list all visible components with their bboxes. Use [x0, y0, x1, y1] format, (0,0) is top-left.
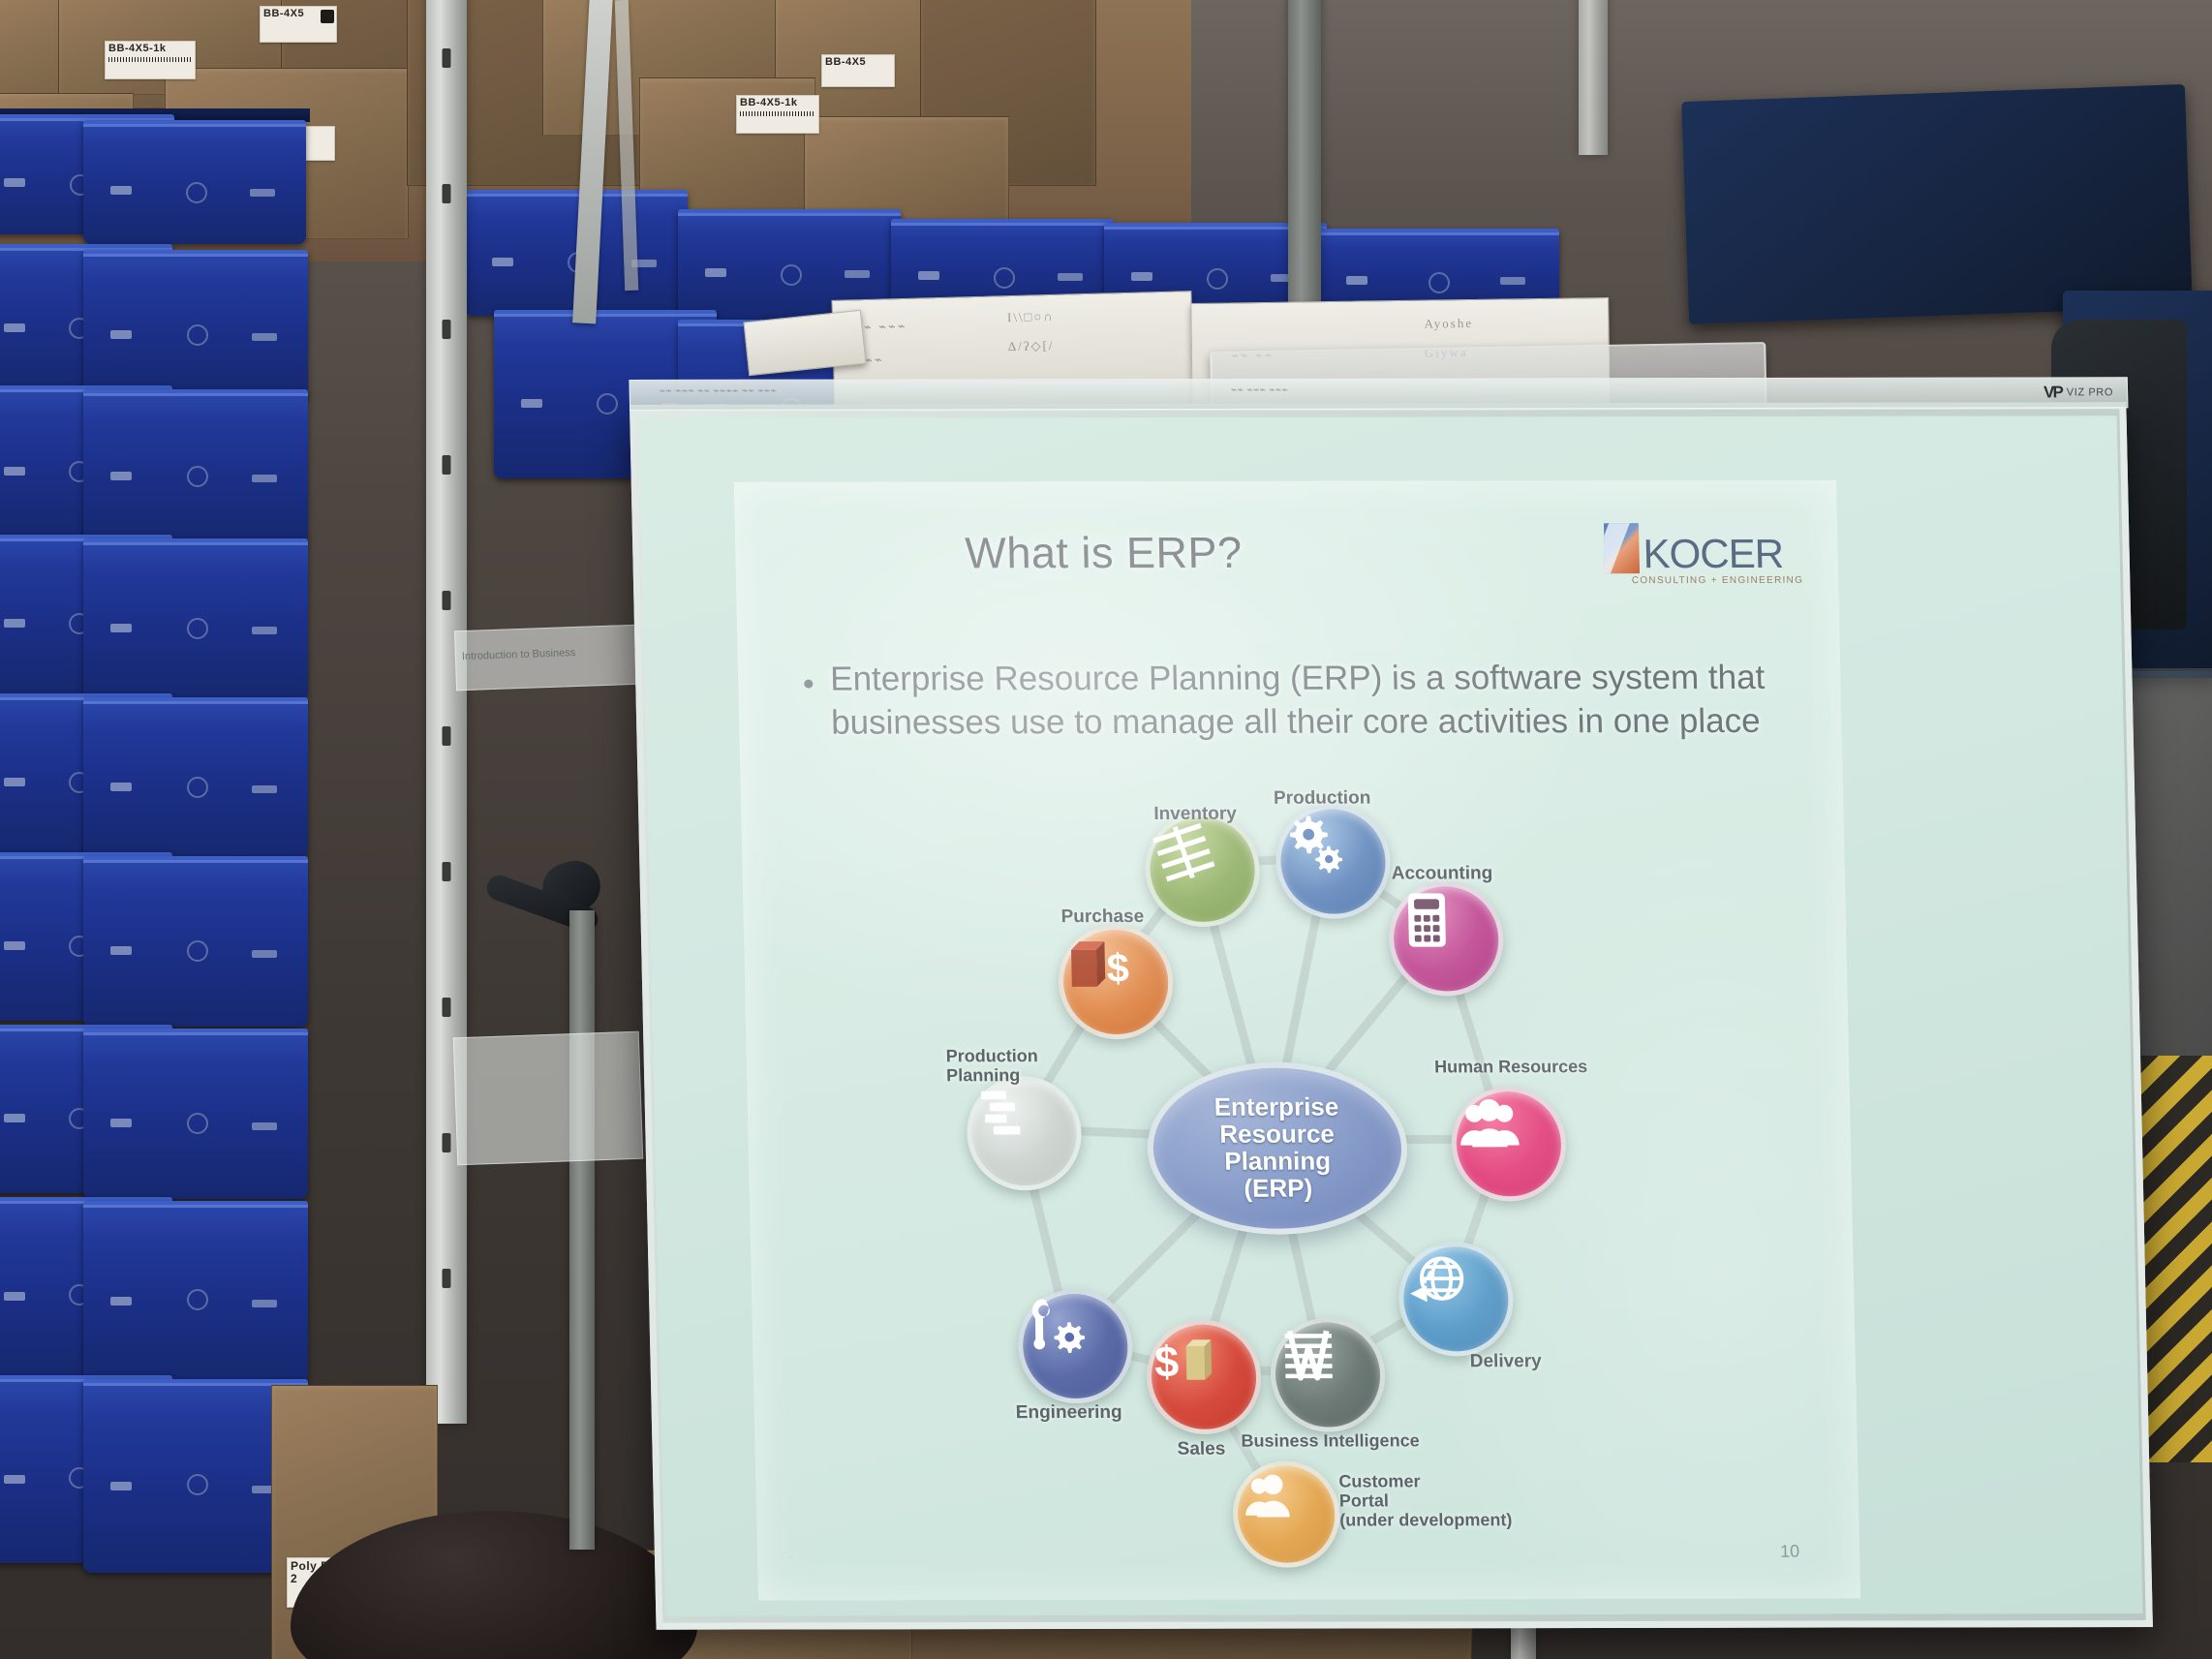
bullet-item: Enterprise Resource Planning (ERP) is a …: [804, 657, 1784, 745]
storage-bin: [83, 1029, 308, 1199]
customer-icon: [1237, 1466, 1300, 1528]
calculator-icon: [1393, 886, 1461, 953]
slide-number: 10: [1780, 1542, 1799, 1562]
diagram-label: Business Intelligence: [1241, 1431, 1420, 1451]
rack-upright: [1579, 0, 1608, 155]
box-label: BB-4X5: [821, 54, 895, 87]
storage-bin: [83, 120, 306, 244]
gantt-icon: [970, 1081, 1039, 1148]
storage-bin: [83, 1201, 308, 1381]
diagram-node-delivery: [1398, 1242, 1515, 1356]
diagram-label: Sales: [1177, 1440, 1225, 1460]
handwriting: Δ/ʔ◇[/: [1008, 338, 1055, 354]
ghost-slide-text: Introduction to Business: [462, 647, 576, 662]
diagram-node-human-resources: [1451, 1087, 1568, 1201]
gears-icon: [1279, 810, 1348, 876]
diagram-node-engineering: [1017, 1289, 1134, 1403]
display-bezel: ⌁⌁ ⌁⌁⌁ ⌁⌁ ⌁⌁⌁⌁ ⌁⌁ ⌁⌁⌁ ⌁⌁ ⌁⌁⌁ ⌁⌁⌁ VP VIZ …: [629, 377, 2128, 411]
diagram-node-inventory: [1144, 813, 1261, 927]
box-label: BB-4X5: [260, 6, 337, 43]
diagram-label: CustomerPortal(under development): [1338, 1472, 1512, 1530]
storage-bin: [83, 697, 308, 858]
svg-text:$: $: [1154, 1336, 1180, 1386]
diagram-node-accounting: [1388, 881, 1505, 996]
bullet-text: Enterprise Resource Planning (ERP) is a …: [830, 657, 1784, 745]
handwriting: Ayoshe: [1424, 316, 1473, 332]
kocer-logo-mark-icon: [1604, 523, 1640, 573]
svg-text:$: $: [1106, 945, 1129, 991]
diagram-label: Delivery: [1470, 1352, 1542, 1372]
box-label-text: BB-4X5: [263, 8, 304, 19]
diagram-node-production-planning: [966, 1076, 1083, 1190]
photo-scene: BB-4X5-1k BB-4X5 BB-4X5 BB-4X5-1k BB-4X5: [0, 0, 2212, 1659]
stand-pole: [569, 910, 595, 1550]
kocer-logo-subtitle: CONSULTING + ENGINEERING: [1605, 575, 1803, 586]
vizpro-brand: VP VIZ PRO: [2043, 383, 2113, 402]
diagram-node-purchase: $: [1058, 925, 1175, 1039]
kocer-logo-word: KOCER: [1643, 536, 1783, 573]
barcode-icon: [108, 57, 192, 62]
slide-canvas: What is ERP? KOCER CONSULTING + ENGINEER…: [734, 480, 1860, 1601]
erp-module-diagram: Enterprise Resource Planning (ERP): [885, 771, 1716, 1566]
bar-chart-icon: [1275, 1323, 1343, 1390]
globe-arrow-icon: [1402, 1246, 1471, 1313]
page-title: What is ERP?: [735, 527, 1472, 578]
dollar-box-icon: $: [1151, 1325, 1219, 1392]
kocer-logo: KOCER CONSULTING + ENGINEERING: [1604, 523, 1803, 586]
center-node-text: Enterprise Resource Planning (ERP): [1214, 1094, 1340, 1202]
people-icon: [1456, 1091, 1524, 1158]
shelving-icon: [1149, 817, 1217, 884]
diagram-node-customer-portal-under-development: [1232, 1461, 1340, 1568]
diagram-node-business-intelligence: [1270, 1317, 1387, 1431]
equipment: [1681, 84, 2193, 324]
barcode-block-icon: [321, 10, 334, 23]
storage-bin: [83, 856, 308, 1027]
handwriting: I\\□○∩: [1007, 309, 1055, 325]
box-dollar-icon: $: [1062, 930, 1131, 997]
storage-bin: [83, 538, 308, 699]
diagram-label: Engineering: [1016, 1403, 1122, 1424]
diagram-label: Production: [1274, 789, 1371, 810]
hazard-tape: [2140, 1056, 2212, 1462]
diagram-node-sales: $: [1146, 1320, 1263, 1434]
box-label: BB-4X5-1k: [105, 41, 196, 79]
box-label-text: BB-4X5-1k: [108, 43, 167, 54]
ghost-slide-panel: [453, 1031, 643, 1166]
presentation-display: ⌁⌁ ⌁⌁⌁ ⌁⌁ ⌁⌁⌁⌁ ⌁⌁ ⌁⌁⌁ ⌁⌁ ⌁⌁⌁ ⌁⌁⌁ VP VIZ …: [630, 402, 2153, 1629]
rack-upright: [1288, 0, 1321, 310]
box-label: BB-4X5-1k: [736, 95, 819, 134]
diagram-label: Inventory: [1153, 805, 1237, 825]
storage-bin: [83, 250, 308, 401]
vizpro-mark: VP: [2043, 383, 2062, 402]
storage-bin: [83, 389, 308, 544]
vizpro-name: VIZ PRO: [2067, 386, 2113, 398]
rack-upright: [426, 0, 467, 1424]
box-label-text: BB-4X5: [825, 56, 866, 68]
diagram-label: Purchase: [1060, 907, 1144, 928]
box-label-text: BB-4X5-1k: [740, 97, 798, 108]
diagram-label: Human Resources: [1434, 1058, 1588, 1077]
bullet-dot-icon: [804, 680, 813, 689]
barcode-icon: [740, 111, 815, 116]
diagram-label: ProductionPlanning: [946, 1047, 1039, 1086]
display-screen: What is ERP? KOCER CONSULTING + ENGINEER…: [639, 415, 2142, 1615]
diagram-node-production: [1275, 805, 1392, 919]
wrench-gear-icon: [1022, 1294, 1091, 1361]
diagram-label: Accounting: [1392, 864, 1493, 884]
slide-corner-mark: · ··: [783, 1551, 794, 1561]
diagram-center-node: Enterprise Resource Planning (ERP): [1146, 1061, 1409, 1234]
ghost-slide-panel: Introduction to Business: [454, 625, 642, 691]
